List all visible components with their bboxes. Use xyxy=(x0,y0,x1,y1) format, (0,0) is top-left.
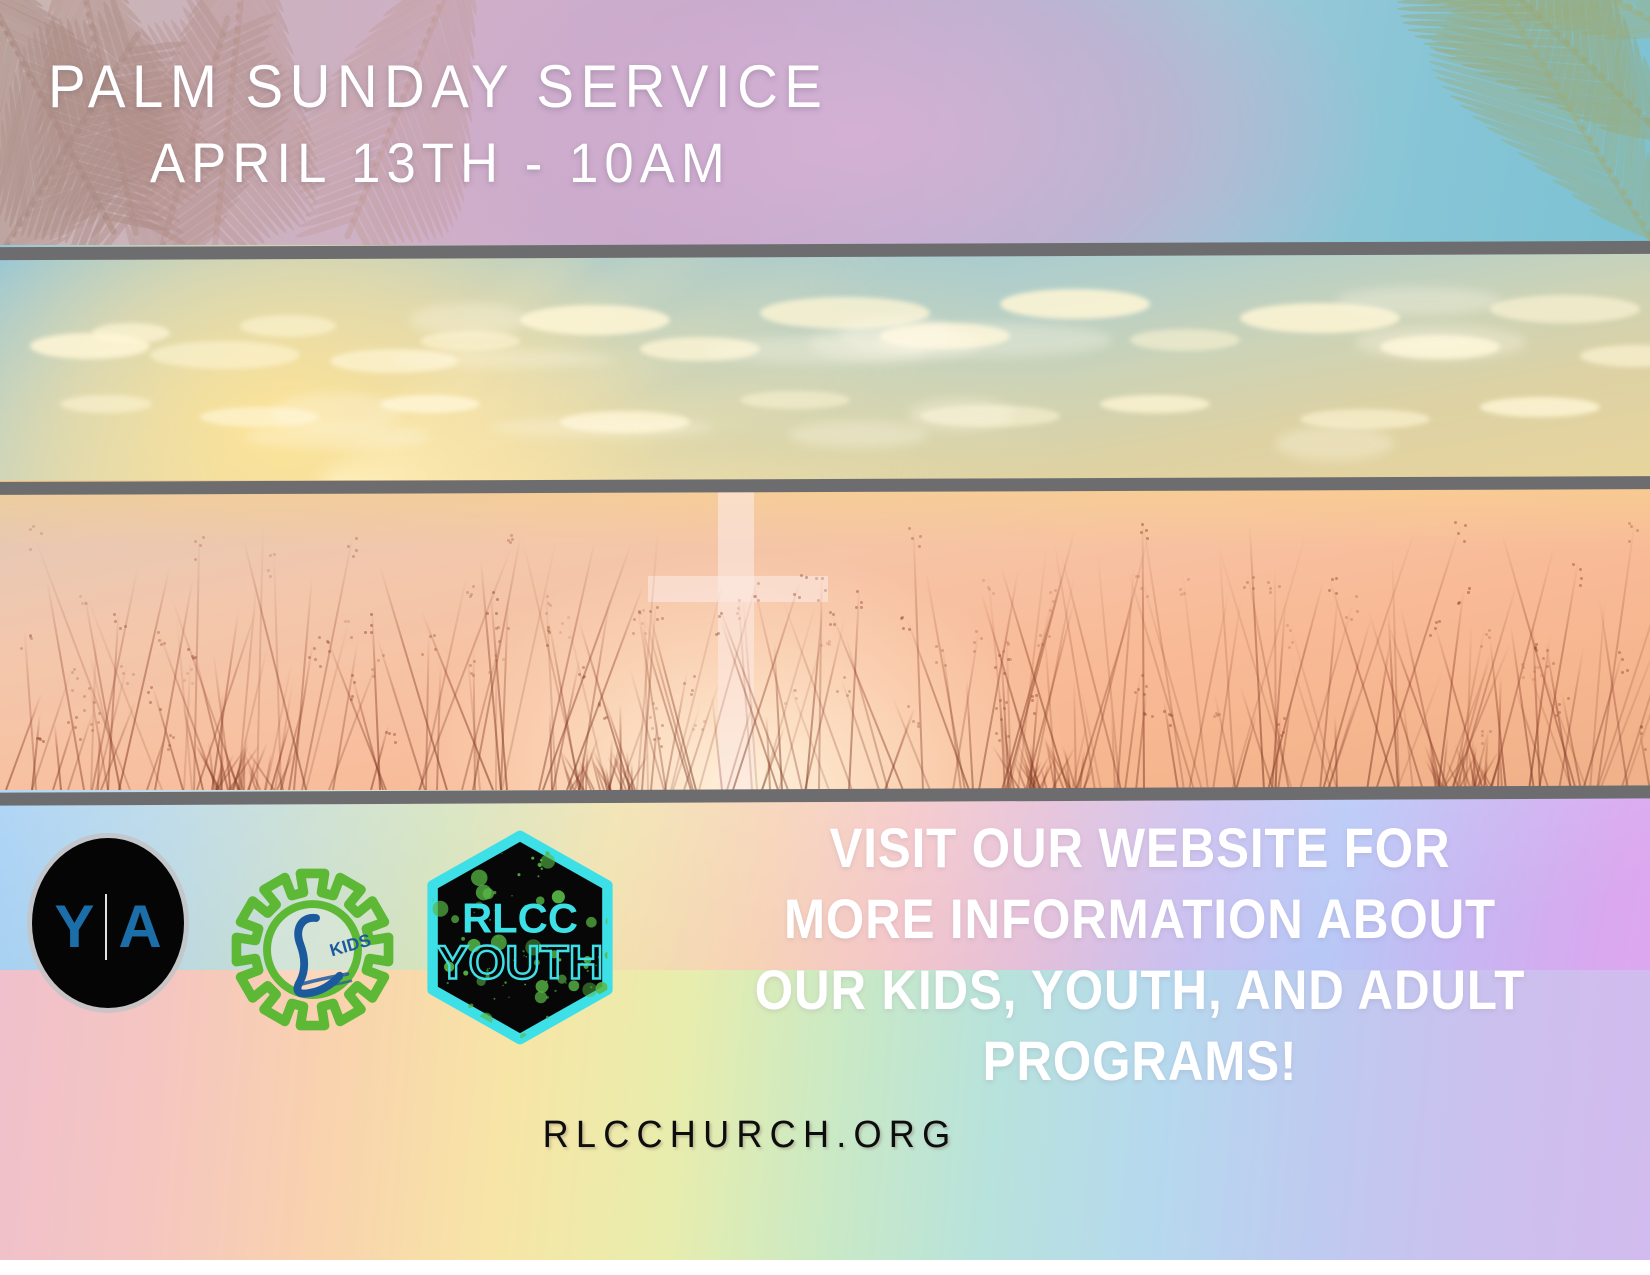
callout-line-3: OUR KIDS, YOUTH, AND ADULT xyxy=(709,954,1571,1025)
youth-line-youth: YOUTH xyxy=(437,936,603,989)
ya-letter-y: Y xyxy=(54,897,94,957)
easter-background-photo xyxy=(0,480,1650,790)
palm-sunday-title: PALM SUNDAY SERVICE xyxy=(48,52,828,121)
bottom-white-strip xyxy=(0,1260,1650,1275)
callout-line-2: MORE INFORMATION ABOUT xyxy=(709,883,1571,954)
youth-line-rlcc: RLCC xyxy=(462,895,578,942)
rlcc-youth-logo[interactable]: RLCC YOUTH xyxy=(425,830,615,1045)
young-adults-logo[interactable]: Y A xyxy=(32,838,184,1008)
band-palm-sunday: PALM SUNDAY SERVICE APRIL 13TH - 10AM xyxy=(0,0,1650,245)
palm-sunday-background-photo xyxy=(0,0,1650,245)
l-kids-logo[interactable]: KIDS xyxy=(225,862,400,1037)
palm-sunday-datetime: APRIL 13TH - 10AM xyxy=(150,130,731,195)
band-easter: EASTER SERVICE APRIL 20TH - 10AM KIDS EA… xyxy=(0,480,1650,790)
ya-letter-a: A xyxy=(118,897,161,957)
ya-divider-bar xyxy=(105,894,107,960)
callout-line-1: VISIT OUR WEBSITE FOR xyxy=(709,812,1571,883)
website-url[interactable]: RLCCHURCH.ORG xyxy=(38,1114,1463,1157)
ministry-logo-row: Y A KIDS xyxy=(0,820,650,1080)
easter-services-flyer: PALM SUNDAY SERVICE APRIL 13TH - 10AM GO… xyxy=(0,0,1650,1275)
good-friday-background-photo xyxy=(0,245,1650,480)
band-good-friday: GOOD FRIDAY SERVICE APRIL 18TH - 6-7PM xyxy=(0,245,1650,480)
callout-line-4: PROGRAMS! xyxy=(709,1025,1571,1096)
website-callout-text: VISIT OUR WEBSITE FOR MORE INFORMATION A… xyxy=(650,812,1630,1096)
